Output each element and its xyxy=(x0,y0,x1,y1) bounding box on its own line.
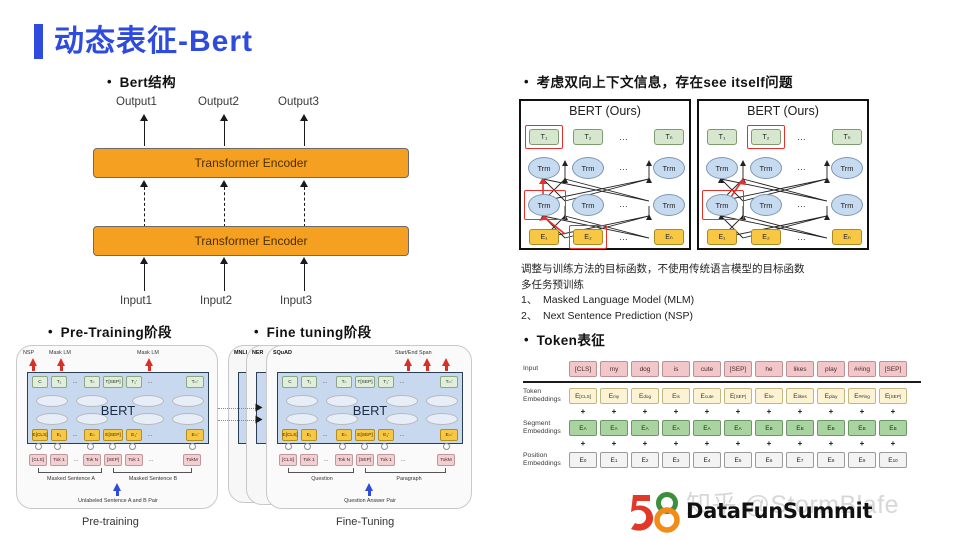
p1-t-n: Tₙ xyxy=(654,129,684,145)
row-pos-cell-3: E3 xyxy=(662,452,690,468)
pretraining-caption: Pre-training xyxy=(82,516,139,528)
finetune-embed-token-2: ... xyxy=(320,429,330,441)
row-token-cell-7: Elikes xyxy=(786,388,814,404)
pretrain-top-token-4: T[SEP] xyxy=(103,376,123,388)
bert-ours-panel-2-title: BERT (Ours) xyxy=(699,101,867,118)
pretrain-bottom-label: Unlabeled Sentence A and B Pair xyxy=(47,496,189,505)
plus-symbol-1-8: + xyxy=(817,407,845,417)
row-token-cell-10: E[SEP] xyxy=(879,388,907,404)
p2-trm-lower-ellipsis: … xyxy=(792,196,812,212)
row-token-cell-0: E[CLS] xyxy=(569,388,597,404)
arrow-in-2-head xyxy=(220,257,228,264)
bert-ours-panel-2: BERT (Ours) T₁ T₂ xyxy=(697,99,869,250)
pretrain-head-nsp: NSP xyxy=(23,350,34,356)
logo-58-icon xyxy=(626,489,682,533)
pretrain-core-label: BERT xyxy=(28,403,208,418)
finetune-top-token-1: T₁ xyxy=(301,376,317,388)
tf-divider xyxy=(523,381,921,383)
red-arrow-span-1-head xyxy=(404,358,412,366)
pretrain-embed-token-1: E₁ xyxy=(51,429,67,441)
tf-plus-row-1: +++++++++++ xyxy=(569,407,921,417)
input-label-3: Input3 xyxy=(280,295,312,307)
bullet-finetuning: • Fine tuning阶段 xyxy=(254,325,372,341)
connector-circle xyxy=(87,443,94,450)
arrow-mid-2-head xyxy=(220,180,228,187)
bullet-dot-icon: • xyxy=(107,75,112,89)
plus-symbol-2-9: + xyxy=(848,439,876,449)
bullet-finetuning-label: Fine tuning阶段 xyxy=(267,325,372,341)
transformer-encoder-bottom-label: Transformer Encoder xyxy=(195,234,308,248)
tf-row-position: Position Embeddings E0E1E2E3E4E5E6E7E8E9… xyxy=(523,449,921,471)
p2-e-1: E₁ xyxy=(707,229,737,245)
connector-circle xyxy=(109,443,116,450)
tf-row-segment: Segment Embeddings EAEAEAEAEAEAEBEBEBEBE… xyxy=(523,417,921,439)
p1-t-2: T₂ xyxy=(573,129,603,145)
bert-ours-panel-1: BERT (Ours) xyxy=(519,99,691,250)
finetune-embed-token-5: E₁' xyxy=(378,429,394,441)
pretrain-embed-token-6: ... xyxy=(145,429,155,441)
plus-symbol-1-1: + xyxy=(600,407,628,417)
objective-item-1-num: 1、 xyxy=(521,293,543,309)
pretrain-input-token-7: TokM xyxy=(183,454,201,466)
tf-label-segment: Segment Embeddings xyxy=(523,420,569,437)
tf-label-input: Input xyxy=(523,365,569,373)
p2-e-ellipsis: … xyxy=(792,229,812,245)
p1-highlight-t1 xyxy=(525,125,563,149)
finetuning-figure: SQuAD Start/End Span BERT C T₁ ... Tₙ T[… xyxy=(266,345,472,509)
finetune-tab-squad: SQuAD xyxy=(273,350,292,356)
objective-item-2-text: Next Sentence Prediction (NSP) xyxy=(543,310,693,322)
pretrain-top-token-0: C xyxy=(32,376,48,388)
bullet-dot-icon: • xyxy=(524,75,529,89)
pretrain-input-token-3: Tok N xyxy=(83,454,101,466)
pretrain-top-token-1: T₁ xyxy=(51,376,67,388)
p2-trm-lower-2: Trm xyxy=(750,194,782,216)
tf-label-position: Position Embeddings xyxy=(523,452,569,469)
row-pos-cell-2: E2 xyxy=(631,452,659,468)
connector-circle xyxy=(189,443,196,450)
plus-symbol-2-7: + xyxy=(786,439,814,449)
finetune-embed-token-7: Eₘ' xyxy=(440,429,458,441)
pretrain-embed-token-5: E₁' xyxy=(126,429,142,441)
pretrain-input-token-4: [SEP] xyxy=(104,454,122,466)
connector-arrow-1 xyxy=(256,404,263,412)
pretrain-to-finetune-connector-1 xyxy=(218,408,260,409)
p2-e-n: Eₙ xyxy=(832,229,862,245)
pretrain-input-token-5: Tok 1 xyxy=(125,454,143,466)
red-arrow-nsp-head xyxy=(29,358,37,366)
token-embeddings-figure: Input [CLS]mydogiscute[SEP]helikesplay##… xyxy=(523,358,921,471)
pretrain-input-token-0: [CLS] xyxy=(29,454,47,466)
p2-trm-upper-2: Trm xyxy=(750,157,782,179)
bullet-dot-icon: • xyxy=(524,333,529,347)
pretrain-embed-token-4: E[SEP] xyxy=(103,429,123,441)
p2-highlight-trm-lower xyxy=(702,190,744,220)
arrow-mid-1-head xyxy=(140,180,148,187)
tf-cells-segment: EAEAEAEAEAEAEBEBEBEBEB xyxy=(569,420,907,436)
row-pos-cell-9: E9 xyxy=(848,452,876,468)
pretrain-input-token-6: ... xyxy=(146,454,156,466)
pretrain-bert-core: BERT C T₁ ... Tₙ T[SEP] T₁' ... Tₘ' E[CL… xyxy=(27,372,209,444)
brace-paragraph xyxy=(365,468,446,473)
plus-symbol-2-5: + xyxy=(724,439,752,449)
plus-symbol-1-2: + xyxy=(631,407,659,417)
objective-line-1: 调整与训练方法的目标函数，不使用传统语言模型的目标函数 xyxy=(521,262,921,278)
plus-symbol-1-5: + xyxy=(724,407,752,417)
p1-e-n: Eₙ xyxy=(654,229,684,245)
page-title-group: 动态表征-Bert xyxy=(34,24,253,59)
p2-t-1: T₁ xyxy=(707,129,737,145)
p1-trm-upper-n: Trm xyxy=(653,157,685,179)
arrow-in-3-stem xyxy=(304,264,305,291)
row-token-cell-8: Eplay xyxy=(817,388,845,404)
arrow-mid-3-head xyxy=(300,180,308,187)
plus-symbol-2-6: + xyxy=(755,439,783,449)
p1-t-ellipsis: … xyxy=(614,129,634,145)
plus-symbol-2-0: + xyxy=(569,439,597,449)
row-input-cell-1: my xyxy=(600,361,628,377)
pretraining-figure: NSP Mask LM Mask LM BERT C T₁ ... Tₙ T[S… xyxy=(16,345,218,509)
finetune-input-token-1: Tok 1 xyxy=(300,454,318,466)
plus-symbol-1-6: + xyxy=(755,407,783,417)
finetune-embed-token-4: E[SEP] xyxy=(355,429,375,441)
tf-plus-row-2: +++++++++++ xyxy=(569,439,921,449)
finetune-input-token-6: ... xyxy=(398,454,408,466)
row-token-cell-2: Edog xyxy=(631,388,659,404)
arrow-mid-3-stem xyxy=(304,187,305,227)
bullet-pretraining-label: Pre-Training阶段 xyxy=(61,325,172,341)
arrow-out-1-stem xyxy=(144,118,145,146)
p2-t-n: Tₙ xyxy=(832,129,862,145)
row-seg-cell-8: EB xyxy=(817,420,845,436)
bullet-bidirectional: • 考虑双向上下文信息，存在see itself问题 xyxy=(524,75,793,91)
row-seg-cell-7: EB xyxy=(786,420,814,436)
row-token-cell-3: Eis xyxy=(662,388,690,404)
finetune-input-token-7: TokM xyxy=(437,454,455,466)
arrow-out-1-head xyxy=(140,114,148,121)
brace-question xyxy=(288,468,354,473)
row-input-cell-2: dog xyxy=(631,361,659,377)
input-label-2: Input2 xyxy=(200,295,232,307)
page-title: 动态表征-Bert xyxy=(54,27,253,57)
pretrain-top-token-7: Tₘ' xyxy=(186,376,204,388)
plus-symbol-2-10: + xyxy=(879,439,907,449)
brand-label: DataFunSummit xyxy=(686,499,872,523)
input-label-1: Input1 xyxy=(120,295,152,307)
connector-circle xyxy=(54,443,61,450)
finetuning-caption: Fine-Tuning xyxy=(336,516,394,528)
blue-arrow-head xyxy=(113,483,121,491)
pretrain-brace-left-label: Masked Sentence A xyxy=(30,474,112,483)
finetune-top-token-7: Tₘ' xyxy=(440,376,458,388)
pretrain-embed-token-7: Eₘ' xyxy=(186,429,204,441)
plus-symbol-2-3: + xyxy=(662,439,690,449)
arrow-mid-1-stem xyxy=(144,187,145,227)
row-seg-cell-10: EB xyxy=(879,420,907,436)
row-input-cell-6: he xyxy=(755,361,783,377)
p1-trm-upper-2: Trm xyxy=(572,157,604,179)
pretrain-to-finetune-connector-2 xyxy=(218,420,260,421)
arrow-in-1-stem xyxy=(144,264,145,291)
row-input-cell-10: [SEP] xyxy=(879,361,907,377)
objective-item-1-text: Masked Language Model (MLM) xyxy=(543,294,694,306)
plus-symbol-1-3: + xyxy=(662,407,690,417)
brace-sentence-a xyxy=(38,468,102,473)
p2-trm-upper-ellipsis: … xyxy=(792,159,812,175)
arrow-out-3-head xyxy=(300,114,308,121)
bullet-dot-icon: • xyxy=(48,325,53,339)
finetune-embed-token-6: ... xyxy=(397,429,407,441)
row-seg-cell-1: EA xyxy=(600,420,628,436)
connector-circle xyxy=(304,443,311,450)
finetune-input-token-5: Tok 1 xyxy=(377,454,395,466)
pretrain-top-token-3: Tₙ xyxy=(84,376,100,388)
p1-highlight-e2 xyxy=(569,225,607,249)
arrow-in-3-head xyxy=(300,257,308,264)
bert-ours-panel-1-title: BERT (Ours) xyxy=(521,101,689,118)
tf-row-token: Token Embeddings E[CLS]EmyEdogEisEcuteE[… xyxy=(523,385,921,407)
arrow-out-2-stem xyxy=(224,118,225,146)
bullet-token: • Token表征 xyxy=(524,333,605,349)
finetune-embed-token-1: E₁ xyxy=(301,429,317,441)
arrow-in-2-stem xyxy=(224,264,225,291)
p2-highlight-t2 xyxy=(747,125,785,149)
p1-e-1: E₁ xyxy=(529,229,559,245)
row-token-cell-1: Emy xyxy=(600,388,628,404)
finetune-top-token-2: ... xyxy=(320,376,330,388)
p2-trm-upper-1: Trm xyxy=(706,157,738,179)
p2-e-2: E₂ xyxy=(751,229,781,245)
row-seg-cell-2: EA xyxy=(631,420,659,436)
p1-trm-upper-1: Trm xyxy=(528,157,560,179)
arrow-out-2-head xyxy=(220,114,228,121)
pretrain-embed-token-2: ... xyxy=(70,429,80,441)
objective-item-2-num: 2、 xyxy=(521,309,543,325)
row-token-cell-9: E##ing xyxy=(848,388,876,404)
connector-circle xyxy=(381,443,388,450)
finetune-input-token-3: Tok N xyxy=(335,454,353,466)
bullet-bert-structure-label: Bert结构 xyxy=(120,75,176,91)
plus-symbol-2-4: + xyxy=(693,439,721,449)
row-input-cell-7: likes xyxy=(786,361,814,377)
row-token-cell-5: E[SEP] xyxy=(724,388,752,404)
footer-brand: DataFunSummit xyxy=(626,489,872,533)
connector-circle xyxy=(129,443,136,450)
finetune-top-token-6: ... xyxy=(397,376,407,388)
brace-sentence-b xyxy=(113,468,192,473)
row-pos-cell-4: E4 xyxy=(693,452,721,468)
arrow-mid-2-stem xyxy=(224,187,225,227)
transformer-encoder-bottom: Transformer Encoder xyxy=(93,226,409,256)
row-seg-cell-0: EA xyxy=(569,420,597,436)
p2-trm-lower-n: Trm xyxy=(831,194,863,216)
finetune-brace-right-label: Paragraph xyxy=(384,474,434,483)
connector-circle xyxy=(339,443,346,450)
plus-symbol-1-4: + xyxy=(693,407,721,417)
finetune-top-token-0: C xyxy=(282,376,298,388)
row-token-cell-6: Ehe xyxy=(755,388,783,404)
p1-highlight-trm-lower xyxy=(524,190,566,220)
output-label-1: Output1 xyxy=(116,96,157,108)
transformer-encoder-top-label: Transformer Encoder xyxy=(195,156,308,170)
tf-cells-input: [CLS]mydogiscute[SEP]helikesplay##ing[SE… xyxy=(569,361,907,377)
red-arrow-span-2-head xyxy=(423,358,431,366)
pretrain-embed-token-3: Eₙ xyxy=(84,429,100,441)
finetune-head-label: Start/End Span xyxy=(395,350,432,356)
finetune-embed-token-3: Eₙ xyxy=(336,429,352,441)
p1-trm-upper-ellipsis: … xyxy=(614,159,634,175)
bullet-bidirectional-label: 考虑双向上下文信息，存在see itself问题 xyxy=(537,75,793,91)
bullet-token-label: Token表征 xyxy=(537,333,606,349)
bert-ours-panels: BERT (Ours) xyxy=(519,99,869,250)
row-pos-cell-0: E0 xyxy=(569,452,597,468)
red-arrow-span-3-head xyxy=(442,358,450,366)
row-seg-cell-5: EA xyxy=(724,420,752,436)
finetune-brace-left-label: Question xyxy=(299,474,345,483)
pretrain-top-token-5: T₁' xyxy=(126,376,142,388)
pretrain-input-token-1: Tok 1 xyxy=(50,454,68,466)
transformer-encoder-diagram: Output1 Output2 Output3 Transformer Enco… xyxy=(88,96,418,311)
row-seg-cell-9: EB xyxy=(848,420,876,436)
plus-symbol-1-0: + xyxy=(569,407,597,417)
objective-line-2: 多任务预训练 xyxy=(521,278,921,294)
bullet-pretraining: • Pre-Training阶段 xyxy=(48,325,172,341)
finetune-input-token-4: [SEP] xyxy=(356,454,374,466)
finetune-top-token-4: T[SEP] xyxy=(355,376,375,388)
finetune-bottom-label: Question Answer Pair xyxy=(315,496,425,505)
tf-cells-token: E[CLS]EmyEdogEisEcuteE[SEP]EheElikesEpla… xyxy=(569,388,907,404)
row-pos-cell-10: E10 xyxy=(879,452,907,468)
connector-circle xyxy=(285,443,292,450)
row-input-cell-5: [SEP] xyxy=(724,361,752,377)
arrow-out-3-stem xyxy=(304,118,305,146)
finetune-input-token-2: ... xyxy=(321,454,331,466)
transformer-encoder-top: Transformer Encoder xyxy=(93,148,409,178)
p2-t-ellipsis: … xyxy=(792,129,812,145)
row-pos-cell-6: E6 xyxy=(755,452,783,468)
finetune-input-token-0: [CLS] xyxy=(279,454,297,466)
row-input-cell-4: cute xyxy=(693,361,721,377)
pretrain-embed-token-0: E[CLS] xyxy=(32,429,48,441)
blue-arrow-head xyxy=(365,483,373,491)
finetune-bert-core: BERT C T₁ ... Tₙ T[SEP] T₁' ... Tₘ' E[CL… xyxy=(277,372,463,444)
title-accent-bar xyxy=(34,24,43,59)
finetune-top-token-5: T₁' xyxy=(378,376,394,388)
tf-cells-position: E0E1E2E3E4E5E6E7E8E9E10 xyxy=(569,452,907,468)
connector-arrow-2 xyxy=(256,416,263,424)
tf-row-input: Input [CLS]mydogiscute[SEP]helikesplay##… xyxy=(523,358,921,380)
p1-trm-lower-n: Trm xyxy=(653,194,685,216)
row-pos-cell-1: E1 xyxy=(600,452,628,468)
row-seg-cell-3: EA xyxy=(662,420,690,436)
red-arrow-mask1-head xyxy=(57,358,65,366)
row-seg-cell-6: EB xyxy=(755,420,783,436)
pretrain-top-token-6: ... xyxy=(145,376,155,388)
pretrain-top-token-2: ... xyxy=(70,376,80,388)
row-input-cell-0: [CLS] xyxy=(569,361,597,377)
objective-item-2: 2、Next Sentence Prediction (NSP) xyxy=(521,309,921,325)
finetune-tab-ner: NER xyxy=(252,350,263,356)
pretrain-head-masklm-1: Mask LM xyxy=(49,350,71,356)
bullet-bert-structure: • Bert结构 xyxy=(107,75,176,91)
arrow-in-1-head xyxy=(140,257,148,264)
tf-label-token: Token Embeddings xyxy=(523,388,569,405)
row-pos-cell-8: E8 xyxy=(817,452,845,468)
plus-symbol-2-8: + xyxy=(817,439,845,449)
finetune-embed-token-0: E[CLS] xyxy=(282,429,298,441)
plus-symbol-1-9: + xyxy=(848,407,876,417)
objective-item-1: 1、Masked Language Model (MLM) xyxy=(521,293,921,309)
finetune-tab-mnli: MNLI xyxy=(234,350,247,356)
p1-trm-lower-2: Trm xyxy=(572,194,604,216)
pretrain-brace-right-label: Masked Sentence B xyxy=(109,474,197,483)
pretrain-head-masklm-2: Mask LM xyxy=(137,350,159,356)
row-pos-cell-5: E5 xyxy=(724,452,752,468)
row-token-cell-4: Ecute xyxy=(693,388,721,404)
slide-root: 动态表征-Bert • Bert结构 Output1 Output2 Outpu… xyxy=(0,0,960,540)
connector-circle xyxy=(361,443,368,450)
connector-circle xyxy=(443,443,450,450)
objective-text-block: 调整与训练方法的目标函数，不使用传统语言模型的目标函数 多任务预训练 1、Mas… xyxy=(521,262,921,324)
row-seg-cell-4: EA xyxy=(693,420,721,436)
output-label-3: Output3 xyxy=(278,96,319,108)
plus-symbol-2-1: + xyxy=(600,439,628,449)
plus-symbol-1-7: + xyxy=(786,407,814,417)
connector-circle xyxy=(35,443,42,450)
row-input-cell-8: play xyxy=(817,361,845,377)
p1-e-ellipsis: … xyxy=(614,229,634,245)
finetune-top-token-3: Tₙ xyxy=(336,376,352,388)
row-pos-cell-7: E7 xyxy=(786,452,814,468)
output-label-2: Output2 xyxy=(198,96,239,108)
p2-trm-upper-n: Trm xyxy=(831,157,863,179)
pretrain-input-token-2: ... xyxy=(71,454,81,466)
red-arrow-mask2-head xyxy=(145,358,153,366)
row-input-cell-9: ##ing xyxy=(848,361,876,377)
finetune-core-label: BERT xyxy=(278,403,462,418)
plus-symbol-2-2: + xyxy=(631,439,659,449)
p1-trm-lower-ellipsis: … xyxy=(614,196,634,212)
bullet-dot-icon: • xyxy=(254,325,259,339)
row-input-cell-3: is xyxy=(662,361,690,377)
plus-symbol-1-10: + xyxy=(879,407,907,417)
